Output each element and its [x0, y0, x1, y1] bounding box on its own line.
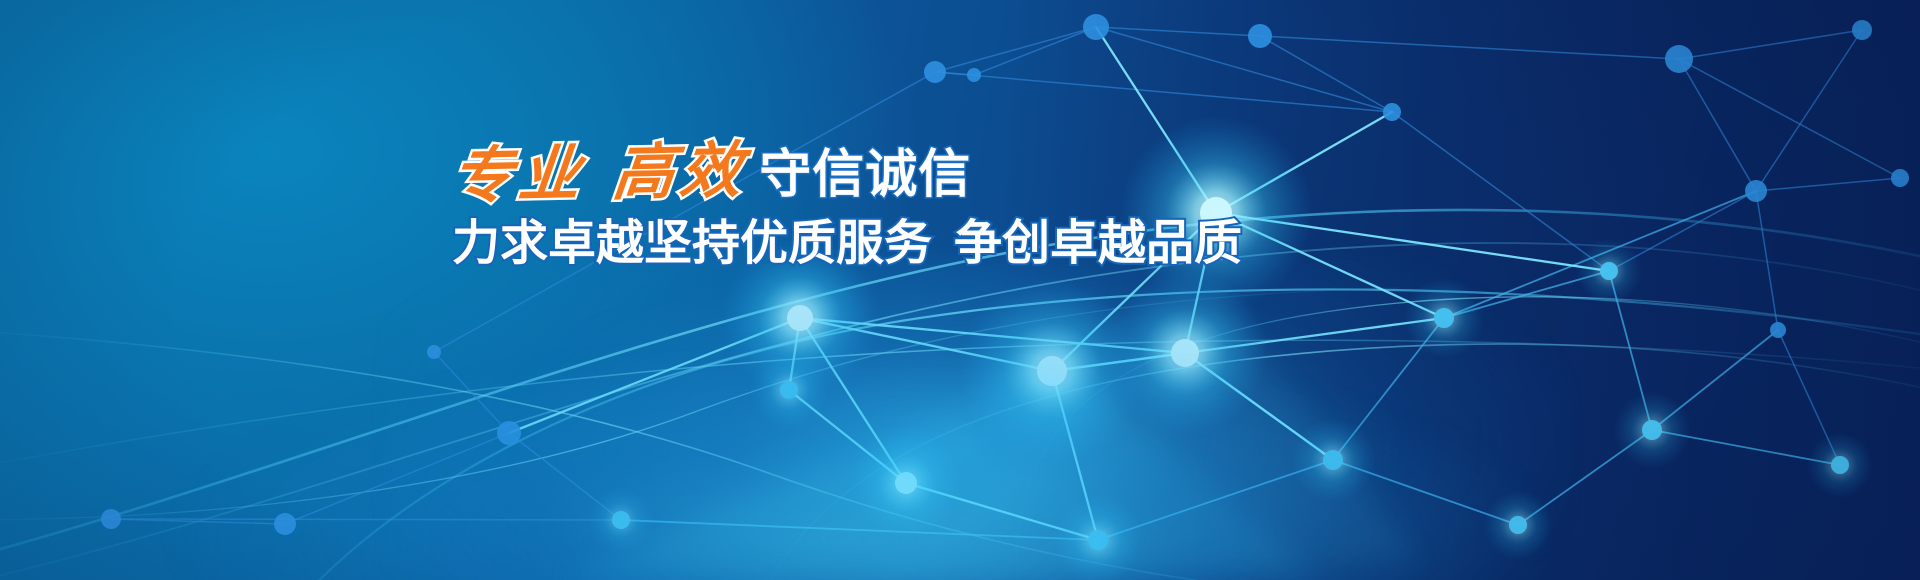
hero-banner: 专业 高效 守信诚信 力求卓越坚持优质服务争创卓越品质	[0, 0, 1920, 580]
vignette	[0, 0, 1920, 580]
